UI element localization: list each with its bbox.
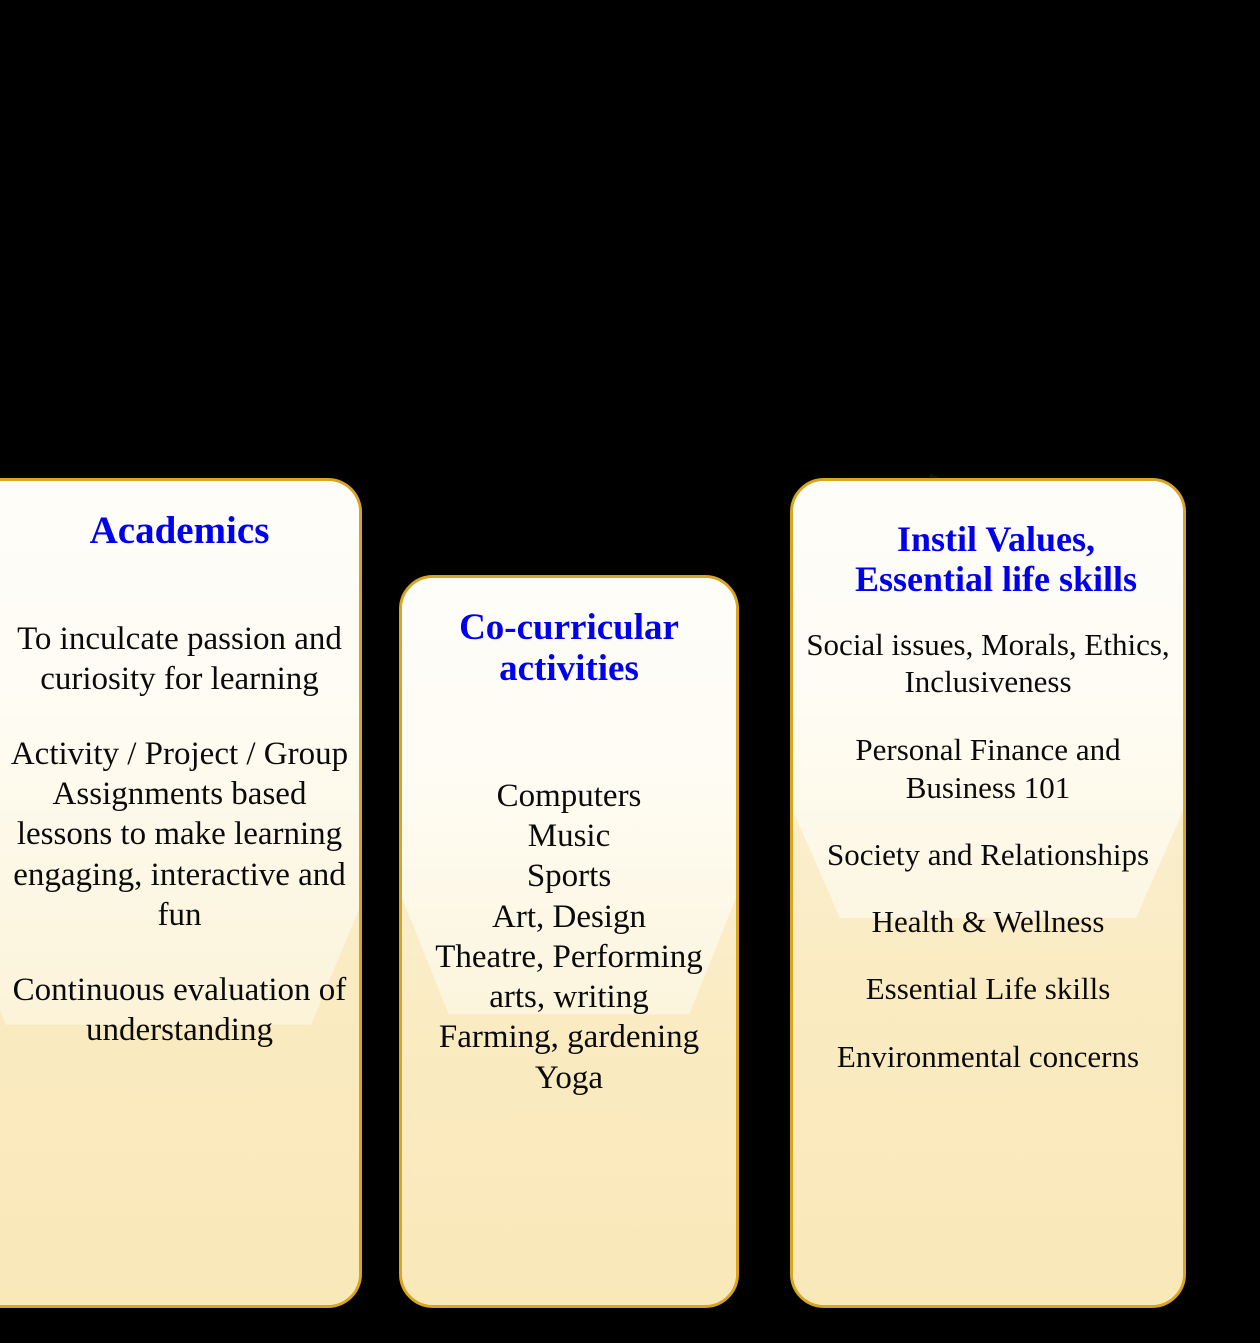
card-paragraph: To inculcate passion and curiosity for l… bbox=[8, 619, 351, 700]
card-body-values: Social issues, Morals, Ethics, Inclusive… bbox=[793, 626, 1183, 1076]
card-content: Instil Values, Essential life skills Soc… bbox=[793, 519, 1183, 1343]
card-title-line: Instil Values, bbox=[791, 519, 1201, 559]
card-body-academics: To inculcate passion and curiosity for l… bbox=[0, 619, 359, 1051]
card-content: Academics To inculcate passion and curio… bbox=[0, 509, 359, 1308]
card-academics[interactable]: Academics To inculcate passion and curio… bbox=[0, 478, 362, 1308]
card-title-cocurricular: Co-curricular activities bbox=[402, 607, 736, 690]
card-title-line: Essential life skills bbox=[791, 559, 1201, 599]
card-paragraph: Essential Life skills bbox=[805, 970, 1171, 1008]
slide-canvas: Academics To inculcate passion and curio… bbox=[0, 0, 1260, 1316]
card-body-cocurricular: ComputersMusicSportsArt, DesignTheatre, … bbox=[402, 776, 736, 1098]
card-paragraph: Social issues, Morals, Ethics, Inclusive… bbox=[805, 626, 1171, 702]
card-paragraph: Activity / Project / Group Assignments b… bbox=[8, 734, 351, 935]
card-paragraph: Personal Finance and Business 101 bbox=[805, 731, 1171, 807]
card-title-line: Co-curricular bbox=[402, 607, 736, 648]
card-title-values: Instil Values, Essential life skills bbox=[791, 519, 1201, 600]
card-content: Co-curricular activities ComputersMusicS… bbox=[402, 607, 736, 1308]
card-instil-values[interactable]: Instil Values, Essential life skills Soc… bbox=[790, 478, 1186, 1308]
card-title-academics: Academics bbox=[0, 509, 359, 553]
card-cocurricular-activities[interactable]: Co-curricular activities ComputersMusicS… bbox=[399, 575, 739, 1308]
card-paragraph: Continuous evaluation of understanding bbox=[8, 970, 351, 1051]
card-paragraph: Environmental concerns bbox=[805, 1038, 1171, 1076]
card-paragraph: ComputersMusicSportsArt, DesignTheatre, … bbox=[404, 776, 734, 1098]
card-paragraph: Society and Relationships bbox=[805, 836, 1171, 874]
card-paragraph: Health & Wellness bbox=[805, 903, 1171, 941]
card-title-line: activities bbox=[402, 648, 736, 689]
